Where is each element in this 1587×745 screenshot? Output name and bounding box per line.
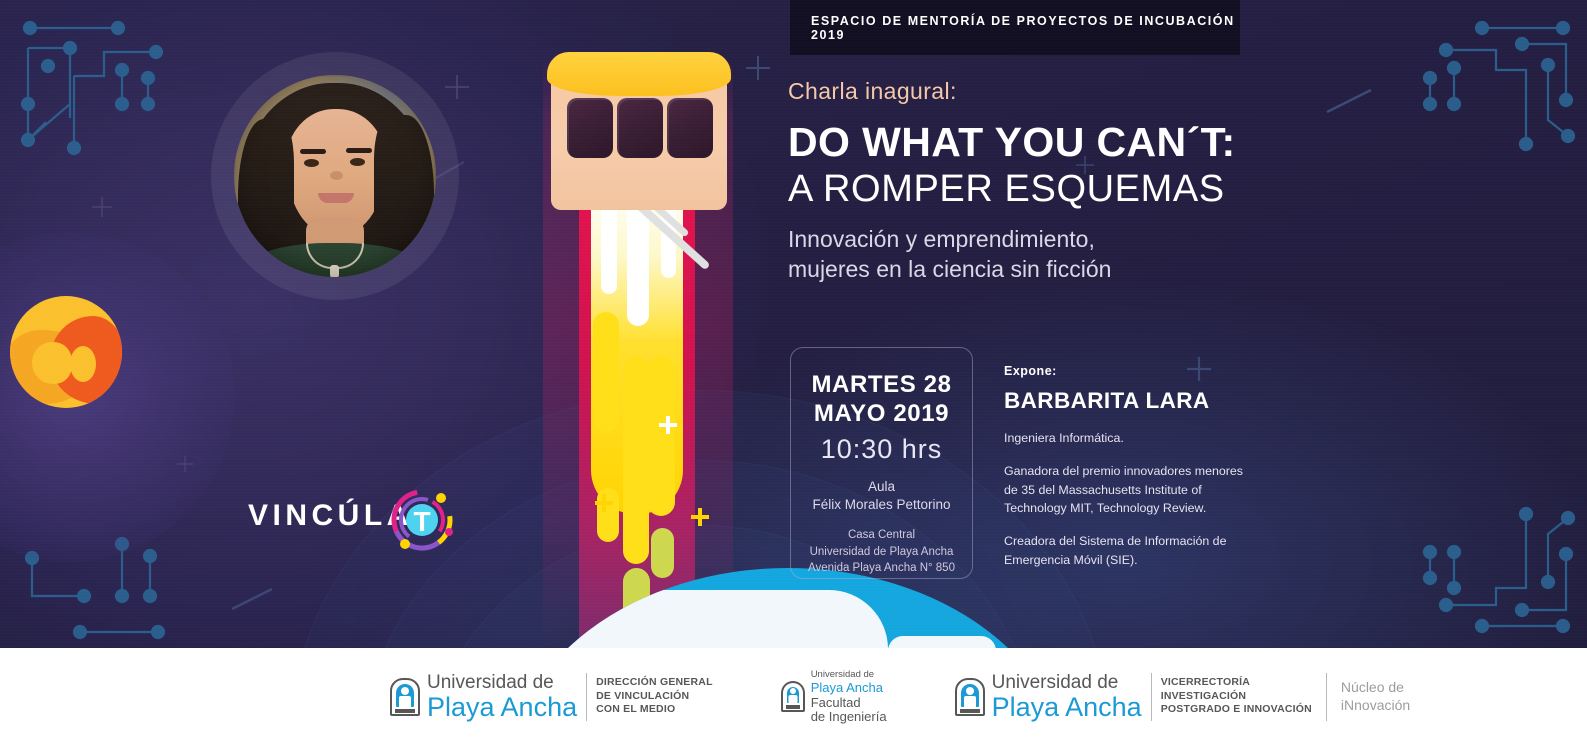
subtitle-line-2: mujeres en la ciencia sin ficción: [788, 254, 1258, 284]
venue-line-2: Félix Morales Pettorino: [791, 496, 972, 515]
venue-line-1: Aula: [791, 478, 972, 497]
sparkle-icon: [745, 55, 771, 81]
circuit-decoration-bottom-right: [1400, 470, 1585, 645]
window-icon: [667, 98, 713, 158]
unit-line-1: Facultad: [811, 696, 887, 709]
subtitle-line-1: Innovación y emprendimiento,: [788, 224, 1258, 254]
circuit-decoration-top-left: [8, 8, 218, 183]
unit-line-3: POSTGRADO E INNOVACIÓN: [1161, 703, 1312, 716]
speaker-bio-line: Ganadora del premio innovadores menores …: [1004, 462, 1249, 517]
logo-divider: [1151, 673, 1152, 721]
vincula-mark-icon: T: [388, 487, 456, 553]
main-copy-block: Charla inagural: DO WHAT YOU CAN´T: A RO…: [788, 78, 1258, 285]
rocket-bus-illustration: [543, 56, 733, 648]
upa-name-line-2: Playa Ancha: [427, 694, 577, 721]
unit-line-1: VICERRECTORÍA: [1161, 676, 1312, 689]
poster-root: VINCÚLA T ESPACIO DE MENTORÍA DE PROYECT…: [0, 0, 1587, 745]
speaker-label: Expone:: [1004, 364, 1249, 378]
unit-line-3: CON EL MEDIO: [596, 703, 713, 716]
circuit-decoration-top-right: [1400, 8, 1585, 183]
nucleo-line-2: iNnovación: [1341, 697, 1410, 715]
speaker-block: Expone: BARBARITA LARA Ingeniera Informá…: [1004, 364, 1249, 569]
speaker-bio-line: Creadora del Sistema de Información de E…: [1004, 532, 1249, 569]
address-line-2: Universidad de Playa Ancha: [791, 544, 972, 560]
unit-line-1: DIRECCIÓN GENERAL: [596, 676, 713, 689]
speaker-name: BARBARITA LARA: [1004, 388, 1249, 414]
logo-facultad-ingenieria: Universidad de Playa Ancha Facultad de I…: [781, 670, 887, 723]
unit-line-2: de Ingeniería: [811, 710, 887, 723]
logo-divider: [586, 673, 587, 721]
title-line-1: DO WHAT YOU CAN´T:: [788, 118, 1258, 166]
event-date-card: MARTES 28 MAYO 2019 10:30 hrs Aula Félix…: [790, 347, 973, 579]
date-day-line: MARTES 28: [791, 370, 972, 399]
speaker-portrait-avatar: [234, 75, 436, 277]
upa-name-line-2: Playa Ancha: [992, 694, 1142, 721]
unit-line-2: INVESTIGACIÓN: [1161, 690, 1312, 703]
artwork-stage: VINCÚLA T ESPACIO DE MENTORÍA DE PROYECT…: [0, 0, 1587, 648]
title-line-2: A ROMPER ESQUEMAS: [788, 167, 1258, 212]
sparkle-icon: [444, 74, 470, 100]
sparkle-icon: [91, 196, 113, 218]
footer-logo-bar: Universidad de Playa Ancha DIRECCIÓN GEN…: [0, 648, 1587, 745]
upa-name-line-1: Universidad de: [811, 670, 887, 680]
window-icon: [567, 98, 613, 158]
unit-line-2: DE VINCULACIÓN: [596, 690, 713, 703]
upa-name-line-1: Universidad de: [992, 673, 1142, 692]
svg-text:T: T: [413, 506, 430, 537]
vincula-logo[interactable]: VINCÚLA T: [248, 487, 454, 549]
kicker-text: Charla inagural:: [788, 78, 1258, 106]
logo-divider: [1326, 673, 1327, 721]
upa-name-line-1: Universidad de: [427, 673, 577, 692]
speaker-bio-line: Ingeniera Informática.: [1004, 429, 1249, 447]
upa-shield-icon: [955, 678, 985, 716]
sparkle-icon: [230, 585, 284, 613]
sparkle-icon: [1325, 86, 1385, 116]
upa-shield-icon: [390, 678, 420, 716]
upa-shield-icon: [781, 681, 805, 712]
event-tagline-bar: ESPACIO DE MENTORÍA DE PROYECTOS DE INCU…: [790, 0, 1240, 55]
planet-icon: [10, 296, 122, 408]
logo-direccion-general-vinculacion: Universidad de Playa Ancha DIRECCIÓN GEN…: [390, 673, 713, 721]
address-line-1: Casa Central: [791, 527, 972, 543]
upa-name-line-2: Playa Ancha: [811, 681, 887, 694]
logo-vicerrectoria-investigacion: Universidad de Playa Ancha VICERRECTORÍA…: [955, 673, 1411, 721]
window-icon: [617, 98, 663, 158]
date-month-year-line: MAYO 2019: [791, 399, 972, 428]
nucleo-line-1: Núcleo de: [1341, 679, 1410, 697]
event-time: 10:30 hrs: [791, 434, 972, 465]
event-tagline-text: ESPACIO DE MENTORÍA DE PROYECTOS DE INCU…: [811, 14, 1240, 42]
address-line-3: Avenida Playa Ancha N° 850: [791, 560, 972, 576]
